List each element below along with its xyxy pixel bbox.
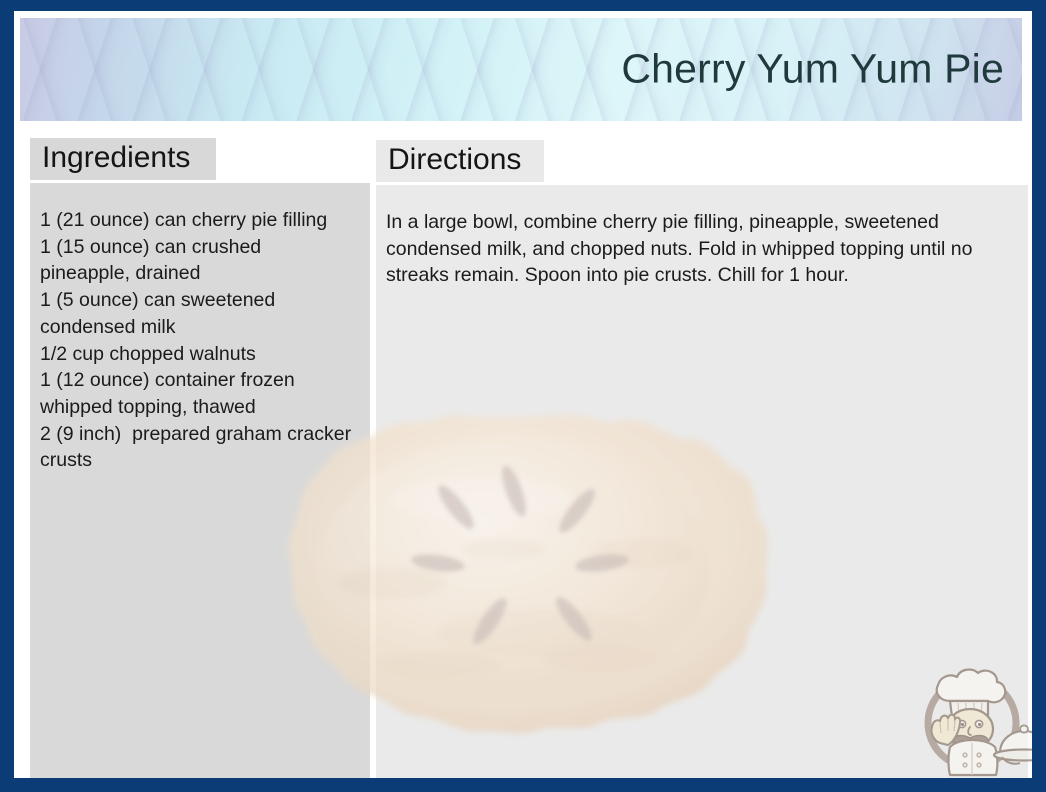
ingredients-list: 1 (21 ounce) can cherry pie filling 1 (1… [40,207,354,474]
directions-panel: In a large bowl, combine cherry pie fill… [376,185,1028,778]
page-title: Cherry Yum Yum Pie [621,45,1004,92]
ingredients-heading: Ingredients [30,138,216,180]
recipe-card: Cherry Yum Yum Pie Ingredients 1 (21 oun… [0,0,1046,792]
ingredients-panel: 1 (21 ounce) can cherry pie filling 1 (1… [30,183,370,778]
directions-text: In a large bowl, combine cherry pie fill… [386,209,1012,289]
recipe-page: Cherry Yum Yum Pie Ingredients 1 (21 oun… [14,11,1032,778]
title-banner: Cherry Yum Yum Pie [20,18,1022,121]
directions-heading: Directions [376,140,544,182]
